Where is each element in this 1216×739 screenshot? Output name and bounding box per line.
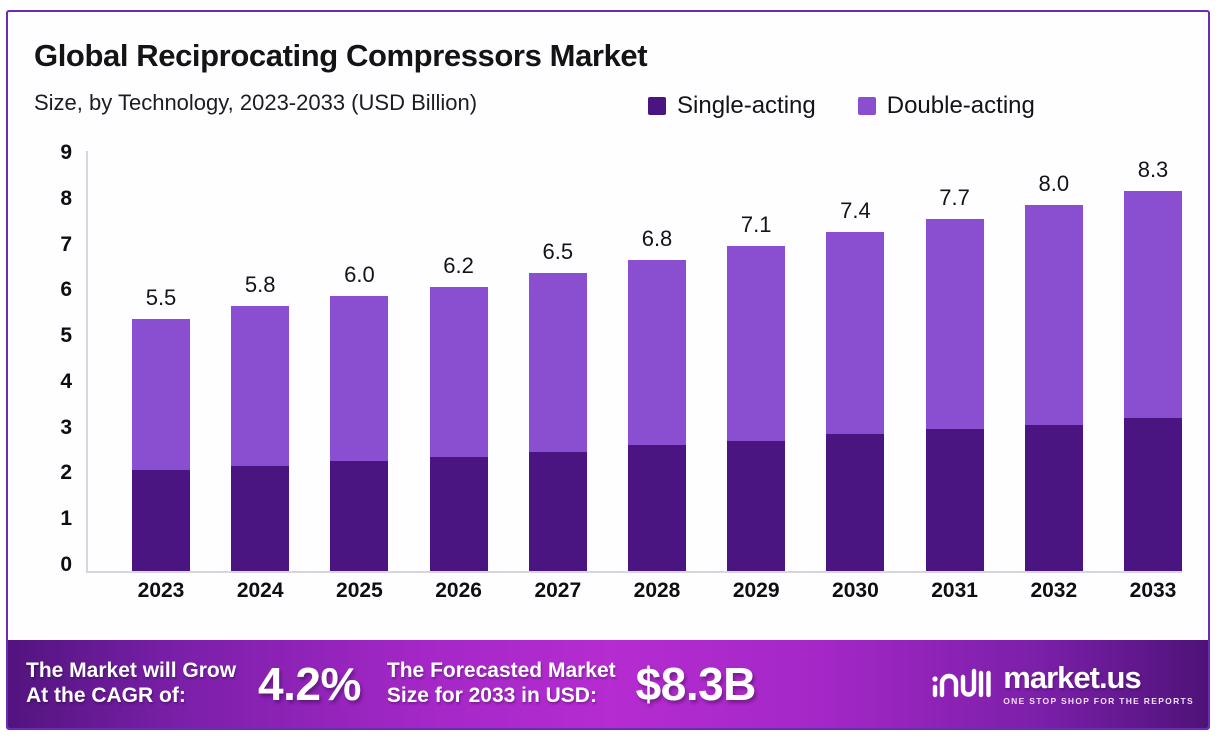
x-axis-tick-label: 2024 bbox=[231, 579, 289, 603]
cagr-caption: The Market will Grow At the CAGR of: bbox=[26, 659, 236, 709]
page-title: Global Reciprocating Compressors Market bbox=[34, 38, 647, 74]
bars-container: 5.55.86.06.26.56.87.17.47.78.08.3 bbox=[88, 147, 1182, 573]
y-axis-tick: 1 bbox=[60, 507, 72, 531]
y-axis-tick: 3 bbox=[60, 416, 72, 440]
legend-item-0[interactable]: Single-acting bbox=[648, 92, 816, 120]
bar-segment-double-acting[interactable] bbox=[826, 232, 884, 433]
bar-value-label: 8.3 bbox=[1138, 157, 1169, 183]
bar-group[interactable]: 5.8 bbox=[231, 306, 289, 572]
chart-card: Global Reciprocating Compressors Market … bbox=[6, 10, 1210, 730]
x-axis-tick-label: 2026 bbox=[430, 579, 488, 603]
y-axis-tick: 7 bbox=[60, 233, 72, 257]
bar-group[interactable]: 7.4 bbox=[826, 232, 884, 571]
stacked-bar[interactable] bbox=[826, 232, 884, 571]
bar-group[interactable]: 6.8 bbox=[628, 260, 686, 571]
legend-item-1[interactable]: Double-acting bbox=[858, 92, 1035, 120]
y-axis-tick: 4 bbox=[60, 370, 72, 394]
bar-group[interactable]: 7.7 bbox=[926, 219, 984, 571]
stacked-bar[interactable] bbox=[430, 287, 488, 571]
stacked-bar[interactable] bbox=[1124, 191, 1182, 571]
stacked-bar[interactable] bbox=[529, 273, 587, 571]
y-axis: 9876543210 bbox=[34, 147, 80, 559]
bar-group[interactable]: 8.3 bbox=[1124, 191, 1182, 571]
bar-segment-double-acting[interactable] bbox=[1025, 205, 1083, 425]
x-axis-labels: 2023202420252026202720282029203020312032… bbox=[88, 579, 1182, 615]
logo-name: market.us bbox=[1003, 662, 1140, 693]
market-us-wordmark: market.us ONE STOP SHOP FOR THE REPORTS bbox=[1003, 662, 1194, 706]
x-axis-tick-label: 2027 bbox=[529, 579, 587, 603]
bar-value-label: 7.4 bbox=[840, 198, 871, 224]
x-axis-tick-label: 2029 bbox=[727, 579, 785, 603]
bar-value-label: 6.5 bbox=[543, 239, 574, 265]
bar-segment-double-acting[interactable] bbox=[1124, 191, 1182, 418]
bar-segment-single-acting[interactable] bbox=[132, 470, 190, 571]
chart-subtitle: Size, by Technology, 2023-2033 (USD Bill… bbox=[34, 90, 477, 116]
stacked-bar[interactable] bbox=[231, 306, 289, 572]
x-axis-tick-label: 2025 bbox=[330, 579, 388, 603]
x-axis-tick-label: 2030 bbox=[826, 579, 884, 603]
bar-value-label: 5.5 bbox=[146, 285, 177, 311]
stacked-bar[interactable] bbox=[727, 246, 785, 571]
bar-segment-double-acting[interactable] bbox=[628, 260, 686, 445]
bar-group[interactable]: 5.5 bbox=[132, 319, 190, 571]
forecast-caption-line2: Size for 2033 in USD: bbox=[387, 684, 616, 709]
bar-segment-double-acting[interactable] bbox=[727, 246, 785, 441]
bar-value-label: 7.7 bbox=[939, 185, 970, 211]
legend-swatch-icon bbox=[858, 97, 876, 115]
chart-legend: Single-actingDouble-acting bbox=[648, 92, 1035, 120]
logo-tagline: ONE STOP SHOP FOR THE REPORTS bbox=[1003, 696, 1194, 706]
bar-segment-single-acting[interactable] bbox=[1124, 418, 1182, 571]
cagr-value: 4.2% bbox=[258, 657, 361, 711]
stacked-bar[interactable] bbox=[926, 219, 984, 571]
forecast-value: $8.3B bbox=[636, 657, 756, 711]
bar-value-label: 6.8 bbox=[642, 226, 673, 252]
forecast-caption-line1: The Forecasted Market bbox=[387, 659, 616, 684]
bar-value-label: 7.1 bbox=[741, 212, 772, 238]
cagr-caption-line1: The Market will Grow bbox=[26, 659, 236, 684]
bar-value-label: 6.0 bbox=[344, 262, 375, 288]
x-axis-tick-label: 2023 bbox=[132, 579, 190, 603]
bar-value-label: 8.0 bbox=[1039, 171, 1070, 197]
bar-segment-double-acting[interactable] bbox=[330, 296, 388, 461]
bar-group[interactable]: 6.5 bbox=[529, 273, 587, 571]
y-axis-tick: 0 bbox=[60, 553, 72, 577]
stacked-bar[interactable] bbox=[330, 296, 388, 571]
bar-segment-double-acting[interactable] bbox=[529, 273, 587, 452]
market-us-logo-icon bbox=[931, 665, 993, 704]
cagr-caption-line2: At the CAGR of: bbox=[26, 684, 236, 709]
legend-swatch-icon bbox=[648, 97, 666, 115]
bar-segment-single-acting[interactable] bbox=[727, 441, 785, 571]
legend-label: Double-acting bbox=[887, 92, 1035, 120]
stacked-bar[interactable] bbox=[628, 260, 686, 571]
y-axis-tick: 2 bbox=[60, 461, 72, 485]
market-us-logo[interactable]: market.us ONE STOP SHOP FOR THE REPORTS bbox=[931, 662, 1194, 706]
bar-segment-single-acting[interactable] bbox=[330, 461, 388, 571]
stacked-bar[interactable] bbox=[1025, 205, 1083, 571]
bar-value-label: 6.2 bbox=[443, 253, 474, 279]
bar-segment-double-acting[interactable] bbox=[430, 287, 488, 456]
bar-segment-single-acting[interactable] bbox=[231, 466, 289, 571]
x-axis-tick-label: 2031 bbox=[926, 579, 984, 603]
bar-segment-double-acting[interactable] bbox=[132, 319, 190, 470]
bar-segment-double-acting[interactable] bbox=[231, 306, 289, 466]
stacked-bar[interactable] bbox=[132, 319, 190, 571]
bar-group[interactable]: 6.0 bbox=[330, 296, 388, 571]
bar-group[interactable]: 7.1 bbox=[727, 246, 785, 571]
x-axis-tick-label: 2033 bbox=[1124, 579, 1182, 603]
bar-group[interactable]: 8.0 bbox=[1025, 205, 1083, 571]
bar-segment-single-acting[interactable] bbox=[1025, 425, 1083, 571]
bar-value-label: 5.8 bbox=[245, 272, 276, 298]
bar-segment-single-acting[interactable] bbox=[826, 434, 884, 571]
bar-group[interactable]: 6.2 bbox=[430, 287, 488, 571]
bar-segment-single-acting[interactable] bbox=[926, 429, 984, 571]
y-axis-tick: 5 bbox=[60, 324, 72, 348]
y-axis-tick: 8 bbox=[60, 187, 72, 211]
y-axis-tick: 9 bbox=[60, 141, 72, 165]
bar-segment-double-acting[interactable] bbox=[926, 219, 984, 430]
x-axis-tick-label: 2028 bbox=[628, 579, 686, 603]
plot-area: 9876543210 5.55.86.06.26.56.87.17.47.78.… bbox=[34, 147, 1184, 587]
chart-infographic: Global Reciprocating Compressors Market … bbox=[0, 0, 1216, 739]
bar-segment-single-acting[interactable] bbox=[529, 452, 587, 571]
bar-segment-single-acting[interactable] bbox=[430, 457, 488, 571]
x-axis-tick-label: 2032 bbox=[1025, 579, 1083, 603]
y-axis-tick: 6 bbox=[60, 278, 72, 302]
forecast-caption: The Forecasted Market Size for 2033 in U… bbox=[387, 659, 616, 709]
bar-segment-single-acting[interactable] bbox=[628, 445, 686, 571]
legend-label: Single-acting bbox=[677, 92, 816, 120]
summary-banner: The Market will Grow At the CAGR of: 4.2… bbox=[8, 640, 1210, 728]
